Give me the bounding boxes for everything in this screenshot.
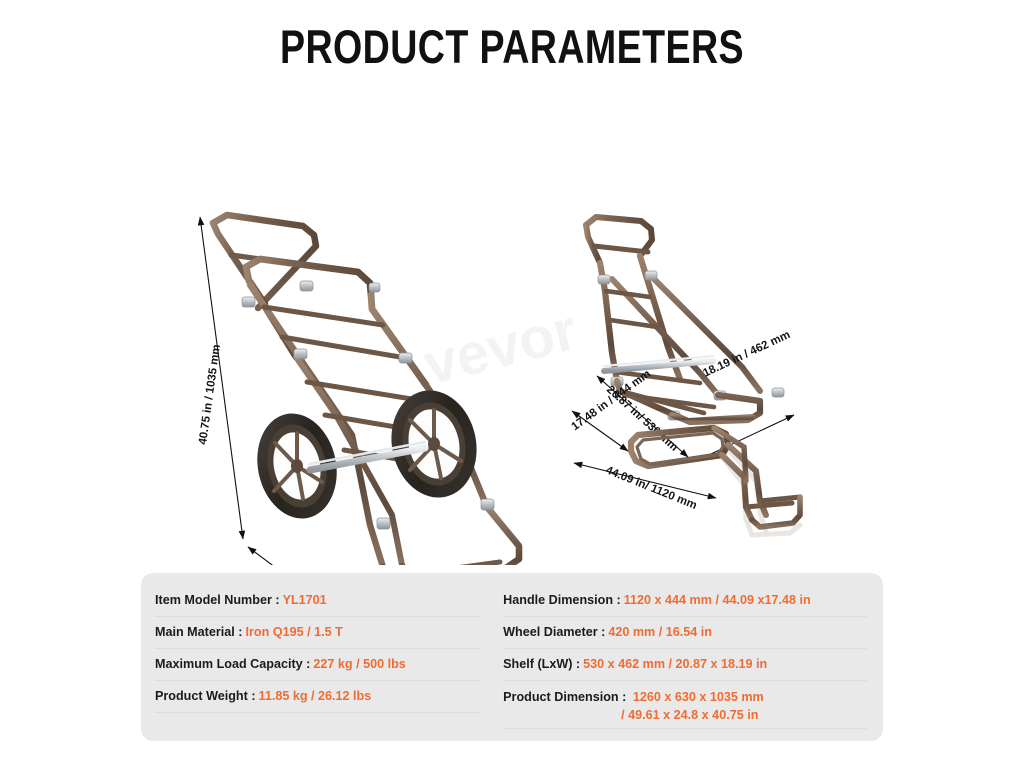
spec-value-product-weight: 11.85 kg / 26.12 lbs [259, 689, 372, 705]
spec-label-handle-dimension: Handle Dimension : [503, 593, 621, 609]
spec-value-product-dimension: 1260 x 630 x 1035 mm [633, 688, 764, 706]
spec-label-product-weight: Product Weight : [155, 689, 256, 705]
vevor-watermark: vevor [417, 297, 583, 398]
spec-label-product-dimension: Product Dimension : [503, 690, 626, 704]
spec-row-wheel-diameter: Wheel Diameter : 420 mm / 16.54 in [503, 617, 867, 649]
spec-value-handle-dimension: 1120 x 444 mm / 44.09 x17.48 in [624, 593, 811, 609]
spec-row-main-material: Main Material : Iron Q195 / 1.5 T [155, 617, 479, 649]
handle-frame-illustration: 17.48 in / 444 mm 44.09 in/ 1120 mm [569, 368, 800, 535]
spec-row-right-spacer [503, 729, 867, 745]
spec-label-wheel-diameter: Wheel Diameter : [503, 625, 605, 641]
spec-row-product-dimension: Product Dimension : 1260 x 630 x 1035 mm… [503, 681, 867, 729]
spec-row-shelf-dimension: Shelf (LxW) : 530 x 462 mm / 20.87 x 18.… [503, 649, 867, 681]
spec-label-maximum-load-capacity: Maximum Load Capacity : [155, 657, 310, 673]
spec-value-item-model-number: YL1701 [283, 593, 327, 609]
spec-row-left-spacer [155, 713, 479, 745]
spec-label-main-material: Main Material : [155, 625, 242, 641]
spec-value-main-material: Iron Q195 / 1.5 T [245, 625, 342, 641]
specification-panel: Item Model Number : YL1701 Main Material… [141, 573, 883, 741]
watermark-text: vevor [417, 297, 583, 398]
dim-text-handle-length: 44.09 in/ 1120 mm [604, 464, 699, 512]
spec-value-shelf-dimension: 530 x 462 mm / 20.87 x 18.19 in [583, 657, 767, 673]
page-title: PRODUCT PARAMETERS [280, 22, 744, 71]
specification-grid: Item Model Number : YL1701 Main Material… [141, 573, 883, 741]
spec-value-maximum-load-capacity: 227 kg / 500 lbs [313, 657, 405, 673]
spec-column-right: Handle Dimension : 1120 x 444 mm / 44.09… [497, 585, 883, 731]
spec-multiline-product-dimension: Product Dimension : 1260 x 630 x 1035 mm… [503, 688, 764, 725]
spec-row-item-model-number: Item Model Number : YL1701 [155, 585, 479, 617]
spec-value-wheel-diameter: 420 mm / 16.54 in [608, 625, 712, 641]
product-parameters-page: PRODUCT PARAMETERS [0, 0, 1024, 768]
wheel-rear [382, 382, 487, 505]
spec-label-item-model-number: Item Model Number : [155, 593, 280, 609]
spec-row-handle-dimension: Handle Dimension : 1120 x 444 mm / 44.09… [503, 585, 867, 617]
product-illustration-area: vevor [0, 95, 1024, 565]
cart-assembled-illustration: 40.75 in / 1035 mm 49.61 in / 1260 mm 24… [197, 215, 530, 565]
spec-label-shelf-dimension: Shelf (LxW) : [503, 657, 580, 673]
spec-row-maximum-load-capacity: Maximum Load Capacity : 227 kg / 500 lbs [155, 649, 479, 681]
spec-column-left: Item Model Number : YL1701 Main Material… [141, 585, 497, 731]
spec-value-product-dimension-line2: / 49.61 x 24.8 x 40.75 in [621, 706, 764, 724]
dimension-label-height: 40.75 in / 1035 mm [197, 344, 223, 446]
page-title-container: PRODUCT PARAMETERS [0, 22, 1024, 71]
dim-text-height: 40.75 in / 1035 mm [197, 344, 223, 446]
dimension-label-handle-length: 44.09 in/ 1120 mm [604, 464, 699, 512]
spec-product-dimension-line1: Product Dimension : 1260 x 630 x 1035 mm [503, 688, 764, 706]
spec-row-product-weight: Product Weight : 11.85 kg / 26.12 lbs [155, 681, 479, 713]
cart-folded-illustration: 20.87 in/ 530 mm 18.19 in / 462 mm [586, 217, 794, 461]
